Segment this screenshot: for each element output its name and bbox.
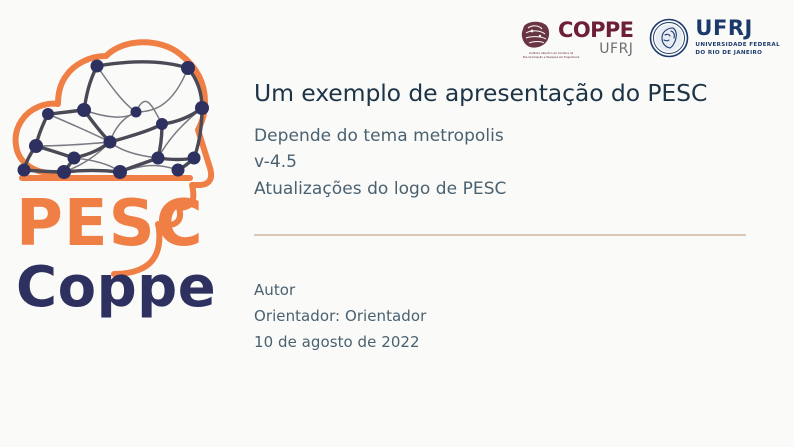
coppe-wordmark-text: COPPE: [558, 20, 633, 41]
coppe-ufrj-text: UFRJ: [599, 42, 633, 56]
presentation-slide: PESC Coppe COPPE UFRJ: [0, 0, 794, 447]
institutional-logos: COPPE UFRJ Instituto Alberto Luiz Coimbr…: [520, 18, 780, 58]
ufrj-seal-icon: [649, 18, 689, 58]
author-block: Autor Orientador: Orientador 10 de agost…: [254, 278, 734, 356]
ufrj-logo: UFRJ UNIVERSIDADE FEDERAL DO RIO DE JANE…: [649, 18, 780, 58]
presentation-date: 10 de agosto de 2022: [254, 330, 734, 356]
subtitle-line-3: Atualizações do logo de PESC: [254, 176, 754, 202]
title-block: Um exemplo de apresentação do PESC Depen…: [254, 80, 754, 202]
page-title: Um exemplo de apresentação do PESC: [254, 80, 754, 107]
coppe-wordmark: Coppe: [16, 255, 216, 320]
pesc-wordmark: PESC: [16, 187, 204, 261]
ufrj-subtitle-text: UNIVERSIDADE FEDERAL DO RIO DE JANEIRO: [695, 42, 780, 57]
author-name: Autor: [254, 278, 734, 304]
coppe-logo: COPPE UFRJ Instituto Alberto Luiz Coimbr…: [520, 18, 633, 58]
advisor-name: Orientador: Orientador: [254, 304, 734, 330]
subtitle-line-1: Depende do tema metropolis: [254, 123, 754, 149]
subtitle-line-2: v-4.5: [254, 149, 754, 175]
pesc-coppe-logo: PESC Coppe: [2, 18, 252, 348]
ufrj-wordmark-text: UFRJ: [695, 18, 752, 39]
horizontal-divider: [254, 234, 746, 236]
coppe-fine-print: Instituto Alberto Luiz Coimbra de Pós-Gr…: [520, 52, 582, 60]
subtitle-block: Depende do tema metropolis v-4.5 Atualiz…: [254, 123, 754, 202]
